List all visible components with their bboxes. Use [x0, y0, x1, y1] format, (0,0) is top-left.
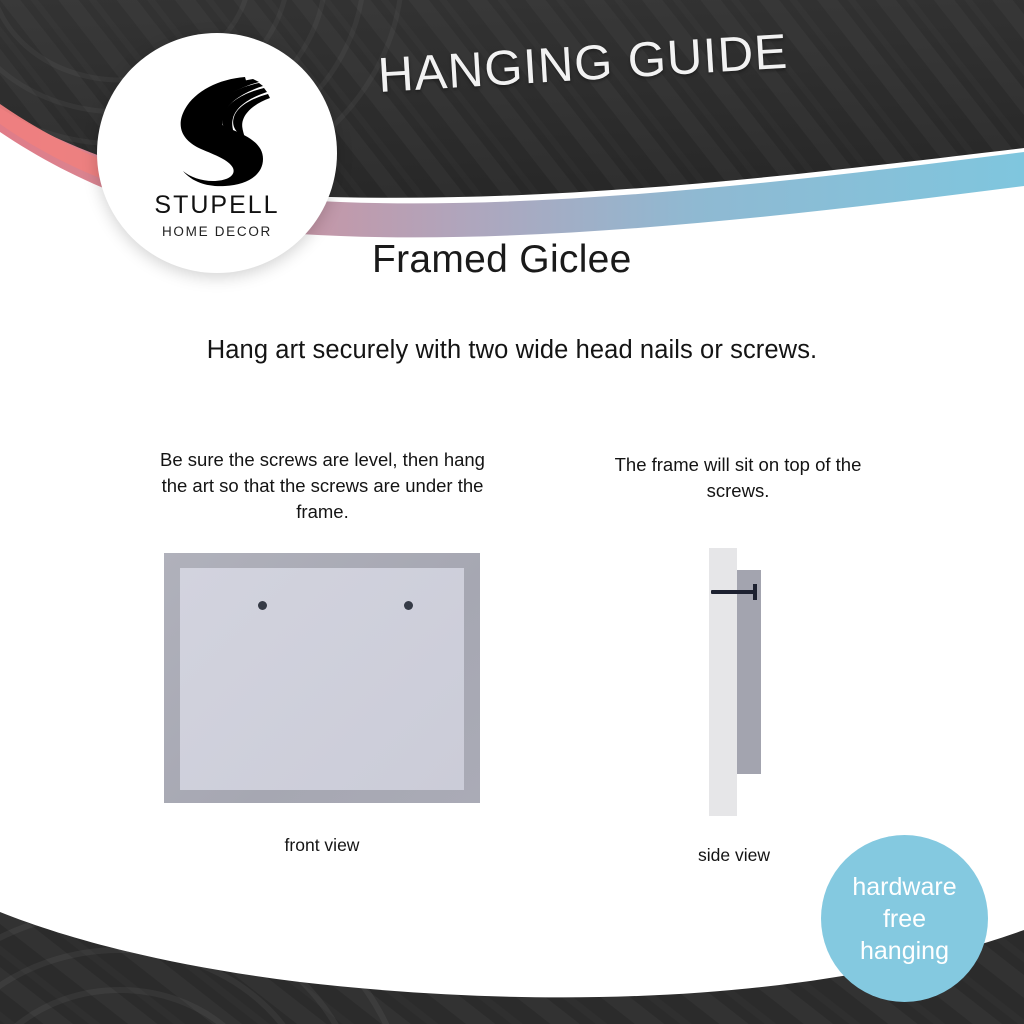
- screw-dot-right: [404, 601, 413, 610]
- nail-head-icon: [753, 584, 757, 600]
- side-view-caption: The frame will sit on top of the screws.: [588, 452, 888, 504]
- badge-line-1: hardware: [852, 871, 956, 903]
- page-title: HANGING GUIDE: [376, 24, 789, 104]
- product-name: Framed Giclee: [372, 238, 632, 282]
- brand-logo-badge: STUPELL HOME DECOR: [97, 33, 337, 273]
- main-instruction-text: Hang art securely with two wide head nai…: [0, 336, 1024, 365]
- front-view-label: front view: [172, 835, 472, 856]
- side-view-diagram: [709, 548, 789, 818]
- badge-line-3: hanging: [860, 935, 949, 967]
- front-view-diagram: [164, 553, 480, 803]
- stupell-swoosh-logo-icon: [157, 57, 277, 187]
- hanging-guide-page: STUPELL HOME DECOR HANGING GUIDE Framed …: [0, 0, 1024, 1024]
- side-view-label: side view: [639, 845, 829, 866]
- side-view-frame: [737, 570, 761, 774]
- brand-name: STUPELL: [154, 191, 279, 220]
- front-view-mat: [180, 568, 464, 790]
- brand-tagline: HOME DECOR: [162, 224, 272, 239]
- badge-line-2: free: [883, 903, 926, 935]
- hardware-free-hanging-badge: hardware free hanging: [821, 835, 988, 1002]
- front-view-caption: Be sure the screws are level, then hang …: [150, 447, 495, 525]
- nail-icon: [711, 590, 757, 594]
- screw-dot-left: [258, 601, 267, 610]
- side-view-wall: [709, 548, 737, 816]
